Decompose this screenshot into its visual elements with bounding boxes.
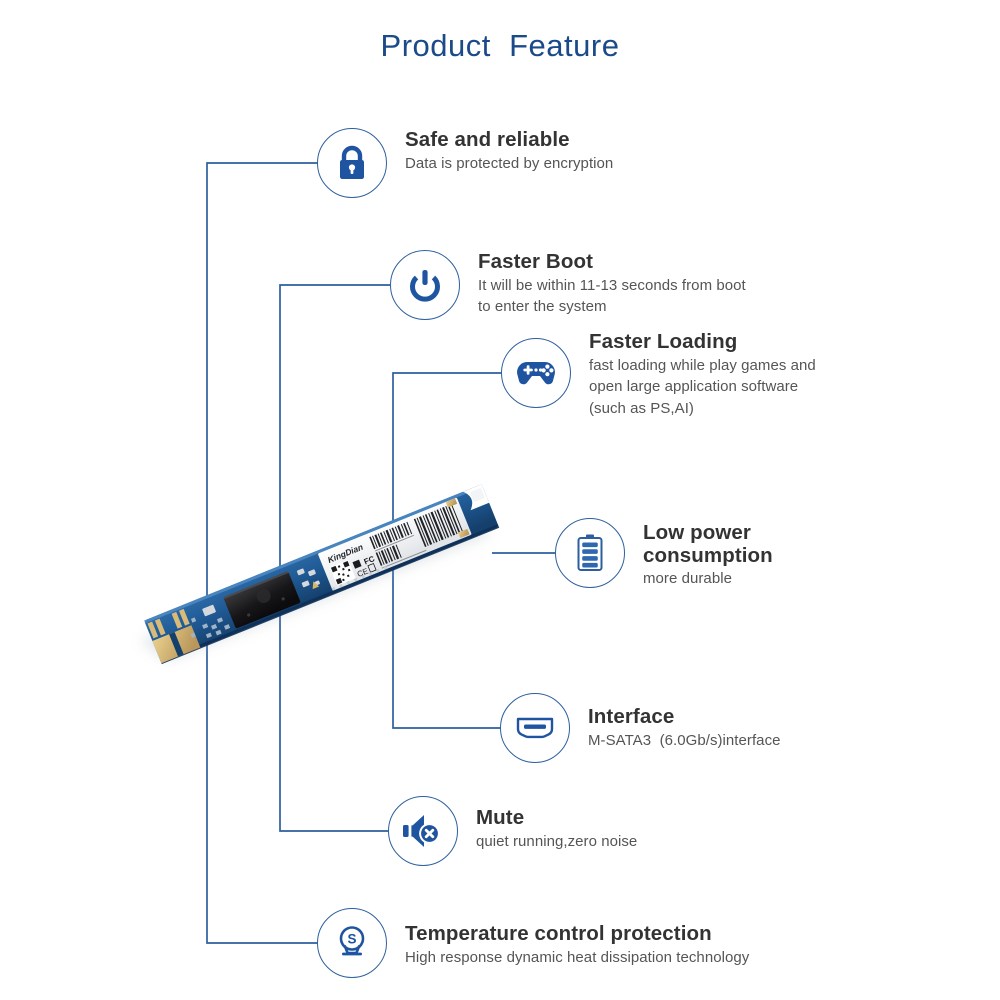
feature-desc: Data is protected by encryption — [405, 153, 613, 174]
feature-text-block: Mute quiet running,zero noise — [476, 806, 637, 852]
feature-desc: High response dynamic heat dissipation t… — [405, 947, 749, 968]
feature-text-block: Safe and reliable Data is protected by e… — [405, 128, 613, 174]
port-icon — [500, 693, 570, 763]
feature-text-block: Interface M-SATA3 (6.0Gb/s)interface — [588, 705, 781, 751]
feature-text-block: Low power consumption more durable — [643, 522, 773, 589]
feature-desc: M-SATA3 (6.0Gb/s)interface — [588, 730, 781, 751]
battery-icon — [555, 518, 625, 588]
feature-desc-line: Data is protected by encryption — [405, 153, 613, 174]
feature-title: Safe and reliable — [405, 128, 613, 152]
feature-desc-line: quiet running,zero noise — [476, 831, 637, 852]
feature-desc-line: High response dynamic heat dissipation t… — [405, 947, 749, 968]
feature-text-block: Temperature control protection High resp… — [405, 922, 749, 968]
feature-desc: quiet running,zero noise — [476, 831, 637, 852]
feature-desc-line: fast loading while play games and — [589, 355, 816, 376]
feature-title: Low power consumption — [643, 522, 773, 567]
lock-icon — [317, 128, 387, 198]
feature-title: Faster Boot — [478, 250, 746, 274]
feature-desc-line: It will be within 11-13 seconds from boo… — [478, 275, 746, 296]
gamepad-icon — [501, 338, 571, 408]
feature-title: Mute — [476, 806, 637, 830]
infographic-canvas: Product Feature — [0, 0, 1000, 1000]
feature-desc: fast loading while play games and open l… — [589, 355, 816, 419]
svg-text:S: S — [347, 931, 356, 946]
feature-title-line: Low power — [643, 522, 773, 545]
feature-desc-line: (such as PS,AI) — [589, 398, 816, 419]
feature-desc: more durable — [643, 568, 773, 589]
feature-desc-line: M-SATA3 (6.0Gb/s)interface — [588, 730, 781, 751]
feature-desc-line: to enter the system — [478, 296, 746, 317]
product-photo: KingDian FC CE — [110, 455, 530, 685]
feature-desc-line: open large application software — [589, 376, 816, 397]
feature-title: Interface — [588, 705, 781, 729]
feature-title: Faster Loading — [589, 330, 816, 354]
power-icon — [390, 250, 460, 320]
feature-text-block: Faster Boot It will be within 11-13 seco… — [478, 250, 746, 318]
feature-title: Temperature control protection — [405, 922, 749, 946]
thermostat-icon: S — [317, 908, 387, 978]
feature-desc-line: more durable — [643, 568, 773, 589]
feature-desc: It will be within 11-13 seconds from boo… — [478, 275, 746, 318]
feature-text-block: Faster Loading fast loading while play g… — [589, 330, 816, 419]
feature-title-line: consumption — [643, 545, 773, 568]
mute-speaker-icon — [388, 796, 458, 866]
page-title: Product Feature — [0, 28, 1000, 64]
